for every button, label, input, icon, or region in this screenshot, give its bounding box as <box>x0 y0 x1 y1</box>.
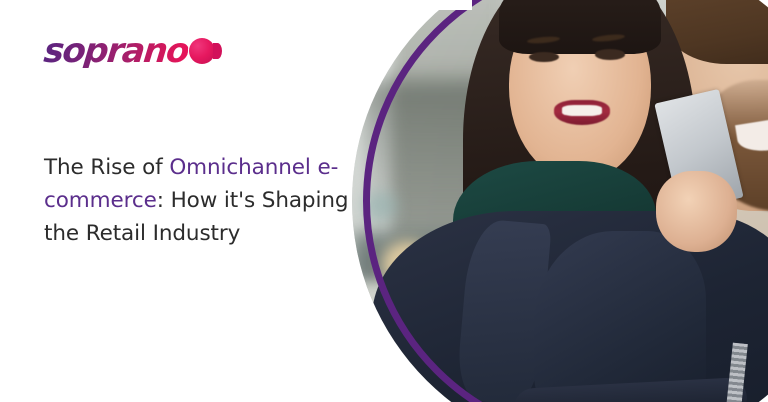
soprano-logo[interactable]: soprano <box>44 34 215 68</box>
content-column: soprano The Rise of Omnichannel e-commer… <box>0 0 380 402</box>
blog-banner: soprano The Rise of Omnichannel e-commer… <box>0 0 768 402</box>
page-title: The Rise of Omnichannel e-commerce: How … <box>44 152 354 250</box>
logo-wordmark: soprano <box>42 34 190 68</box>
woman-hand <box>656 171 737 252</box>
headline-part-1: The Rise of <box>44 155 169 180</box>
woman-eye <box>595 49 625 60</box>
sphere-dot-icon <box>189 38 215 64</box>
